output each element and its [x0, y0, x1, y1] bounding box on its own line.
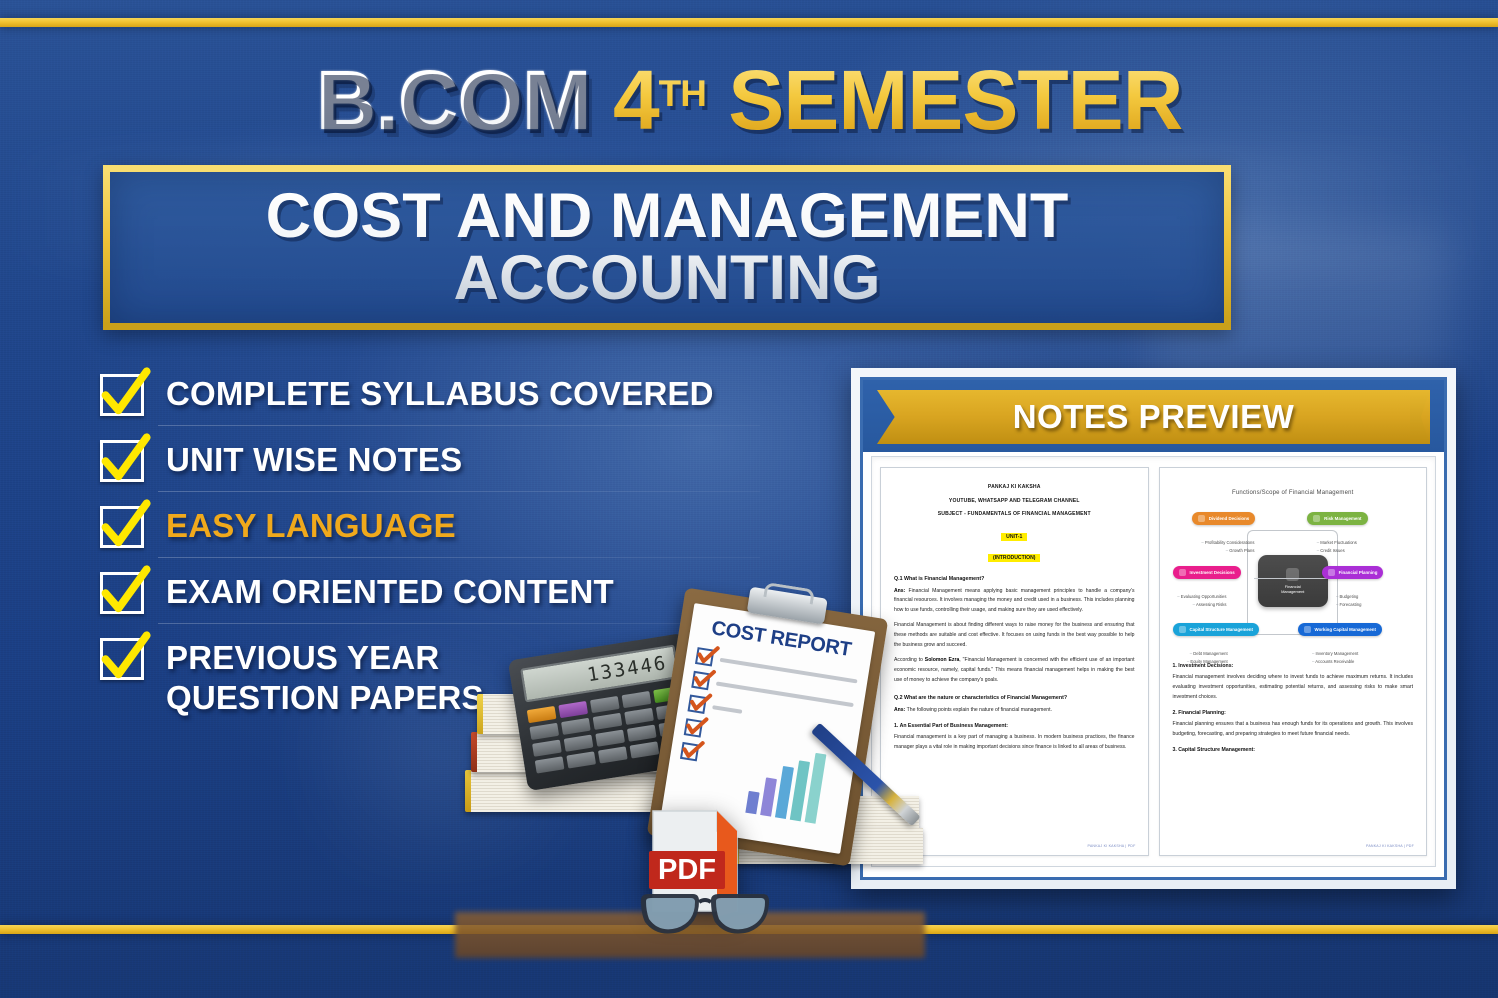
mindmap-node-2: Risk Management: [1307, 512, 1367, 525]
check-icon: [100, 572, 144, 614]
calculator-key: [622, 691, 652, 708]
mindmap-subitem: Profitability Considerations: [1201, 539, 1254, 547]
ribbon-label: NOTES PREVIEW: [1013, 398, 1295, 436]
notes-preview-ribbon: NOTES PREVIEW: [877, 390, 1430, 444]
mindmap-node-label: Working Capital Management: [1315, 627, 1376, 632]
doc-topic-highlight-wrap: (INTRODUCTION): [894, 546, 1135, 567]
mindmap-node-label: Financial Planning: [1339, 570, 1378, 575]
glasses-icon: [635, 890, 775, 942]
doc-q1-heading: Q.1 What is Financial Management?: [894, 576, 1135, 582]
node-icon: [1179, 626, 1186, 633]
mindmap-subitems-5: Debt ManagementEquity Management: [1187, 650, 1228, 666]
mindmap-subitems-6: Inventory ManagementAccounts Receivable: [1312, 650, 1358, 666]
right-section-heading-2: 2. Financial Planning:: [1173, 710, 1414, 716]
doc-q2-answer: Ans: The following points explain the na…: [894, 706, 1135, 716]
doc-footer-right: PANKAJ KI KAKSHA | PDF: [1366, 844, 1414, 848]
mindmap-subitem: Market Fluctuations: [1317, 539, 1357, 547]
orange-check-icon: [695, 647, 714, 666]
mindmap-subitem: Equity Management: [1187, 658, 1228, 666]
checklist-label: PREVIOUS YEARQUESTION PAPERS: [166, 636, 484, 719]
calculator-key: [566, 751, 596, 768]
mindmap-subitem: Accounts Receivable: [1312, 658, 1358, 666]
calculator-key: [564, 735, 594, 752]
doc-q1-para-3: According to Solomon Ezra, "Financial Ma…: [894, 656, 1135, 686]
node-icon: [1304, 626, 1311, 633]
calculator-key: [595, 730, 625, 747]
calculator-key: [630, 741, 660, 758]
subject-title: COST AND MANAGEMENT ACCOUNTING: [256, 186, 1079, 308]
doc-header-3: SUBJECT - FUNDAMENTALS OF FINANCIAL MANA…: [894, 511, 1135, 517]
cost-report-line: [712, 705, 742, 714]
checklist-item-3: EASY LANGUAGE: [100, 504, 740, 548]
node-icon: [1328, 569, 1335, 576]
mindmap-node-label: Investment Decisions: [1190, 570, 1235, 575]
checklist-item-2: UNIT WISE NOTES: [100, 438, 740, 482]
doc-q1-citation: Solomon Ezra: [925, 657, 960, 663]
mindmap-subitems-2: Market FluctuationsCredit Issues: [1317, 539, 1357, 555]
desk-props: 133446: [455, 560, 925, 930]
mindmap-subitem: Forecasting: [1336, 601, 1361, 609]
doc-q2-point-1-heading: 1. An Essential Part of Business Managem…: [894, 723, 1135, 729]
mindmap-subitem: Growth Plans: [1201, 547, 1254, 555]
semester-ordinal: 4TH: [613, 53, 706, 147]
doc-q2-point-1-text: Financial management is a key part of ma…: [894, 733, 1135, 753]
document-page-right: Functions/Scope of Financial Management …: [1159, 467, 1428, 856]
orange-check-icon: [687, 694, 706, 713]
calculator-key: [598, 746, 628, 763]
top-gold-divider: [0, 18, 1498, 27]
calculator-key: [590, 696, 620, 713]
check-icon: [100, 506, 144, 548]
mindmap-subitems-1: Profitability ConsiderationsGrowth Plans: [1201, 539, 1254, 555]
right-section-heading-3: 3. Capital Structure Management:: [1173, 747, 1414, 753]
orange-check-icon: [684, 718, 703, 737]
doc-q1-para-1: Ans: Financial Management means applying…: [894, 587, 1135, 617]
poster-canvas: B.COM 4TH SEMESTER COST AND MANAGEMENT A…: [0, 0, 1498, 998]
document-pages: PANKAJ KI KAKSHA YOUTUBE, WHATSAPP AND T…: [871, 456, 1436, 867]
mindmap-subitem: Inventory Management: [1312, 650, 1358, 658]
mindmap-subitem: Debt Management: [1187, 650, 1228, 658]
calculator-display-value: 133446: [586, 652, 669, 686]
mindmap-subitem: Evaluating Opportunities: [1177, 593, 1226, 601]
check-icon: [100, 374, 144, 416]
connector-mid-left: [1254, 578, 1292, 579]
mindmap-node-3: Investment Decisions: [1173, 566, 1241, 579]
notes-preview-panel: NOTES PREVIEW PANKAJ KI KAKSHA YOUTUBE, …: [851, 368, 1456, 889]
semester-word: SEMESTER: [728, 53, 1182, 147]
mindmap-node-label: Capital Structure Management: [1190, 627, 1253, 632]
checklist-label: UNIT WISE NOTES: [166, 438, 462, 480]
doc-unit-highlight-wrap: UNIT-1: [894, 525, 1135, 546]
cost-report-bar-2: [760, 777, 777, 816]
doc-footer-left: PANKAJ KI KAKSHA | PDF: [1087, 844, 1135, 848]
doc-q1-para-2: Financial Management is about finding di…: [894, 621, 1135, 651]
doc-header-2: YOUTUBE, WHATSAPP AND TELEGRAM CHANNEL: [894, 498, 1135, 504]
calculator-key: [529, 723, 559, 740]
calculator-key: [561, 718, 591, 735]
checklist-item-1: COMPLETE SYLLABUS COVERED: [100, 372, 740, 416]
calculator-key: [627, 725, 657, 742]
mindmap-subitem: Assessing Risks: [1177, 601, 1226, 609]
calculator-key: [527, 706, 557, 723]
mindmap-subitem: Credit Issues: [1317, 547, 1357, 555]
doc-header-1: PANKAJ KI KAKSHA: [894, 484, 1135, 490]
check-icon: [100, 440, 144, 482]
mindmap-subitems-3: Evaluating OpportunitiesAssessing Risks: [1177, 593, 1226, 609]
checklist-label: COMPLETE SYLLABUS COVERED: [166, 372, 714, 414]
mindmap-subitem: Budgeting: [1336, 593, 1361, 601]
calculator-key: [624, 708, 654, 725]
mindmap-node-label: Dividend Decisions: [1209, 516, 1250, 521]
doc-q2-heading: Q.2 What are the nature or characteristi…: [894, 695, 1135, 701]
right-section-text-1: Financial management involves deciding w…: [1173, 673, 1414, 703]
doc-q2-answer-text: The following points explain the nature …: [907, 707, 1052, 713]
subject-banner: COST AND MANAGEMENT ACCOUNTING: [103, 165, 1231, 330]
right-section-text-2: Financial planning ensures that a busine…: [1173, 720, 1414, 740]
check-icon: [100, 638, 144, 680]
diagram-title: Functions/Scope of Financial Management: [1173, 490, 1414, 496]
cost-report-bar-chart: [745, 741, 847, 827]
mindmap-node-label: Risk Management: [1324, 516, 1361, 521]
right-page-sections: 1. Investment Decisions:Financial manage…: [1173, 663, 1414, 753]
node-icon: [1313, 515, 1320, 522]
orange-check-icon: [691, 671, 710, 690]
node-icon: [1198, 515, 1205, 522]
connector-top-left: [1247, 530, 1293, 581]
calculator-key: [535, 756, 565, 773]
node-icon: [1179, 569, 1186, 576]
calculator-key: [593, 713, 623, 730]
eyeglasses: [635, 890, 775, 942]
doc-unit-highlight: UNIT-1: [1001, 533, 1027, 541]
mindmap-node-1: Dividend Decisions: [1192, 512, 1256, 525]
mindmap-node-6: Working Capital Management: [1298, 623, 1382, 636]
notes-preview-inner: NOTES PREVIEW PANKAJ KI KAKSHA YOUTUBE, …: [860, 377, 1447, 880]
doc-topic-highlight: (INTRODUCTION): [988, 554, 1040, 562]
calculator-key: [532, 740, 562, 757]
mindmap-subitems-4: BudgetingForecasting: [1336, 593, 1361, 609]
checklist-label: EASY LANGUAGE: [166, 504, 456, 546]
course-label: B.COM: [316, 53, 591, 147]
subject-line-2: ACCOUNTING: [266, 248, 1069, 309]
pdf-label: PDF: [658, 854, 716, 886]
subject-line-1: COST AND MANAGEMENT: [266, 186, 1069, 247]
functions-mindmap: FinancialManagement Dividend DecisionsPr…: [1173, 506, 1414, 656]
orange-check-icon: [680, 742, 699, 761]
doc-q1-para-1-text: Financial Management means applying basi…: [894, 588, 1135, 614]
page-title: B.COM 4TH SEMESTER: [0, 58, 1498, 142]
mindmap-node-4: Financial Planning: [1322, 566, 1384, 579]
mindmap-node-5: Capital Structure Management: [1173, 623, 1259, 636]
calculator-key: [558, 701, 588, 718]
